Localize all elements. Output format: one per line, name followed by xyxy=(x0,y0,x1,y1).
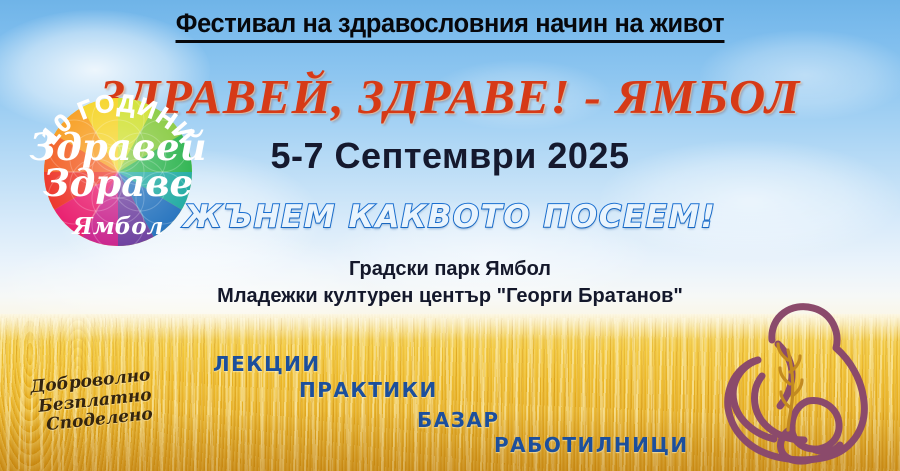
festival-subtitle: Фестивал на здравословния начин на живот xyxy=(27,8,873,39)
festival-logo[interactable]: 10 ГОДИНИ Здравей Здраве Ямбол xyxy=(22,68,214,260)
logo-city: Ямбол xyxy=(71,213,164,240)
activity-keyword-bazaar: БАЗАР xyxy=(417,408,500,432)
activity-keyword-workshops: РАБОТИЛНИЦИ xyxy=(494,433,689,457)
mother-and-child-emblem xyxy=(700,288,895,471)
activity-keyword-lectures: ЛЕКЦИИ xyxy=(213,352,321,376)
activity-keyword-practices: ПРАКТИКИ xyxy=(299,378,438,402)
venue-line-primary: Градски парк Ямбол xyxy=(0,258,900,281)
festival-poster: Фестивал на здравословния начин на живот… xyxy=(0,0,900,471)
logo-script-line-2: Здраве xyxy=(43,161,193,205)
festival-subtitle-text: Фестивал на здравословния начин на живот xyxy=(176,8,724,43)
